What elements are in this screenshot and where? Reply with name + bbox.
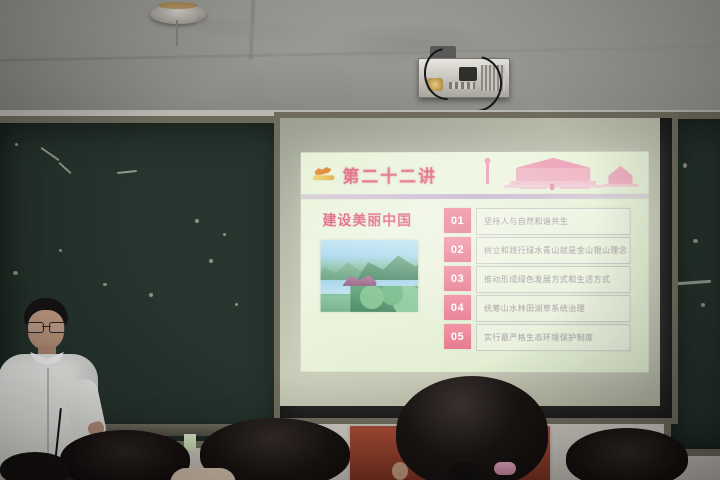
list-item: 04 统筹山水林田湖草系统治理 xyxy=(444,295,631,322)
list-item: 02 树立和践行绿水青山就是金山银山理念 xyxy=(444,237,631,264)
audience-shoulder xyxy=(170,468,236,480)
lecture-number-title: 第二十二讲 xyxy=(342,162,437,187)
list-item: 01 坚持人与自然和谐共生 xyxy=(444,208,631,235)
audience-head xyxy=(60,430,190,480)
item-text: 推动形成绿色发展方式和生活方式 xyxy=(477,274,610,285)
slide-header: 第二十二讲 xyxy=(301,152,649,195)
list-item: 05 实行最严格生态环境保护制度 xyxy=(444,324,631,351)
header-divider xyxy=(301,194,649,200)
ceiling-fan-rod xyxy=(176,20,178,46)
item-number-badge: 01 xyxy=(444,208,471,233)
projected-slide: 第二十二讲 建设美丽中国 xyxy=(301,152,649,373)
item-text-box: 实行最严格生态环境保护制度 xyxy=(476,324,631,351)
item-number-badge: 05 xyxy=(444,324,471,349)
glasses-icon xyxy=(27,322,66,331)
item-text: 实行最严格生态环境保护制度 xyxy=(477,332,594,343)
item-text-box: 推动形成绿色发展方式和生活方式 xyxy=(476,266,631,293)
pink-hair-tie xyxy=(494,462,516,475)
cpc-party-emblem-icon xyxy=(313,163,335,182)
list-item: 03 推动形成绿色发展方式和生活方式 xyxy=(444,266,631,293)
item-text-box: 树立和践行绿水青山就是金山银山理念 xyxy=(476,237,631,264)
item-text: 统筹山水林田湖草系统治理 xyxy=(477,303,585,314)
item-number-badge: 02 xyxy=(444,237,471,262)
projector-buttons xyxy=(449,82,475,89)
landscape-photo xyxy=(321,240,419,312)
audience-head xyxy=(566,428,688,480)
item-text-box: 统筹山水林田湖草系统治理 xyxy=(476,295,631,322)
item-text: 坚持人与自然和谐共生 xyxy=(477,216,568,227)
audience-ear xyxy=(392,462,408,480)
slide-section-title: 建设美丽中国 xyxy=(323,210,413,230)
classroom-scene: 第二十二讲 建设美丽中国 xyxy=(0,0,720,480)
numbered-point-list: 01 坚持人与自然和谐共生 02 树立和践行绿水青山就是金山银山理念 03 推动… xyxy=(444,208,631,354)
item-number-badge: 03 xyxy=(444,266,471,291)
desk-box xyxy=(184,434,196,450)
projector-panel xyxy=(459,67,477,81)
presenter-shirt-placket xyxy=(47,368,49,464)
tiananmen-gate-icon xyxy=(464,156,645,192)
item-number-badge: 04 xyxy=(444,295,471,320)
item-text-box: 坚持人与自然和谐共生 xyxy=(476,208,631,235)
audience-head xyxy=(0,452,70,480)
item-text: 树立和践行绿水青山就是金山银山理念 xyxy=(477,245,627,256)
audience-hair-bun xyxy=(448,462,482,480)
